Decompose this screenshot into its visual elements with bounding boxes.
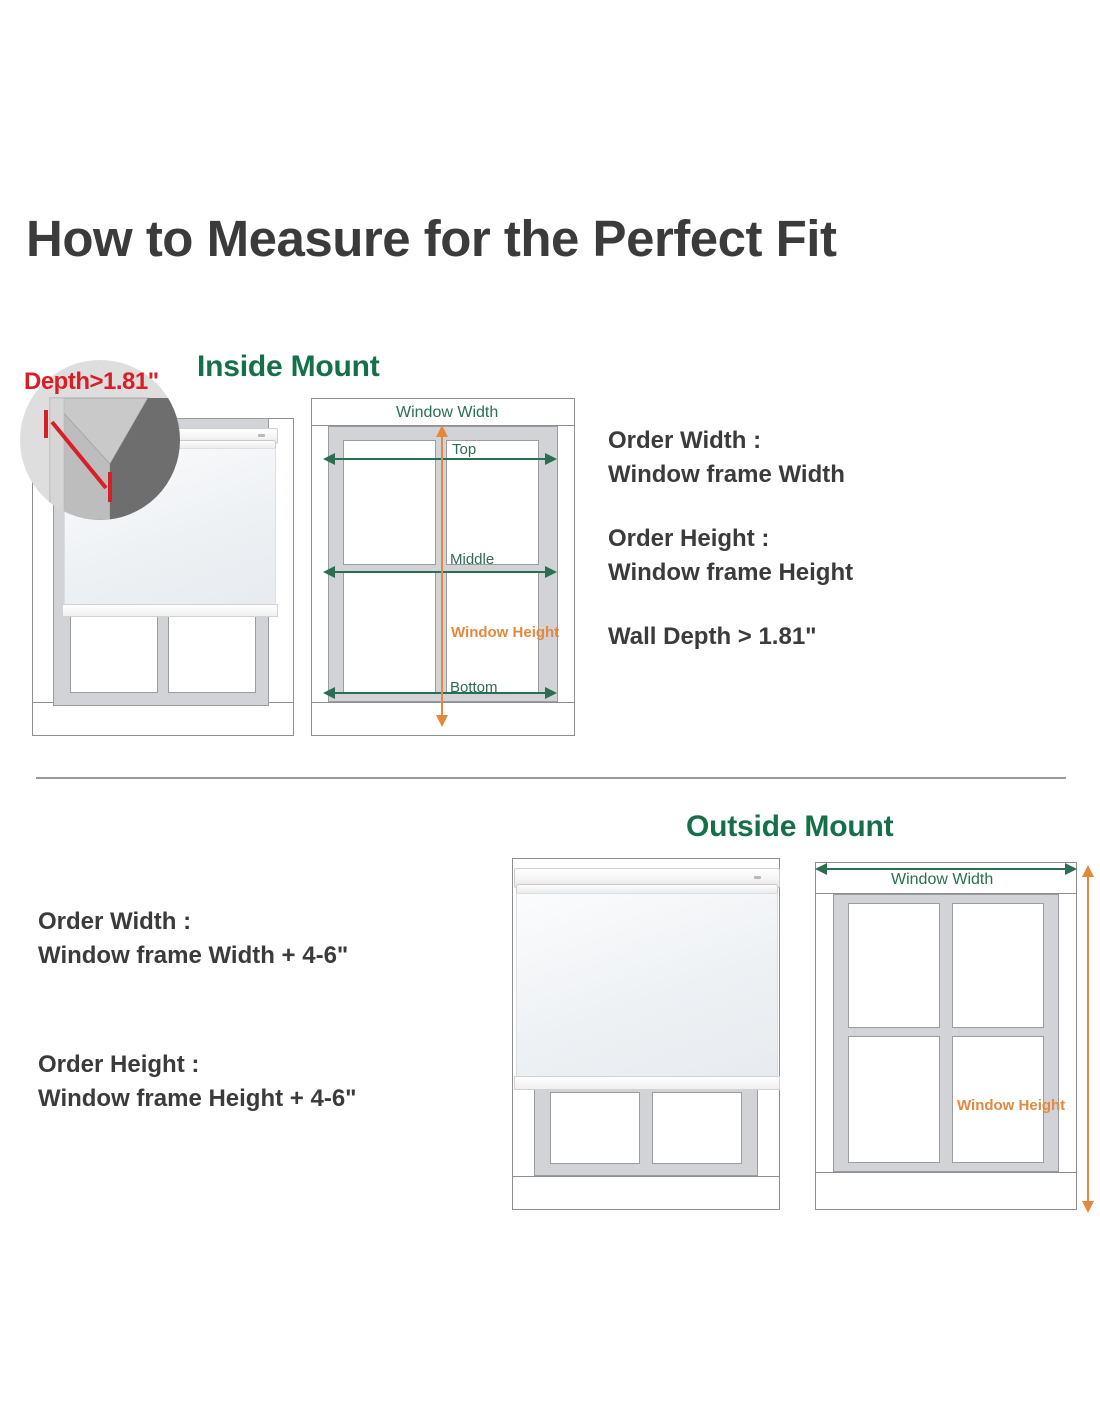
width-arrow-middle	[334, 571, 546, 573]
diagram-pane	[848, 903, 940, 1028]
outside-order-height-spec: Order Height : Window frame Height + 4-6…	[38, 1048, 357, 1116]
outside-mount-heading: Outside Mount	[686, 810, 893, 844]
inside-wall-depth-spec: Wall Depth > 1.81"	[608, 620, 817, 654]
height-arrow	[441, 436, 443, 716]
measure-label-middle: Middle	[450, 551, 494, 568]
window-pane	[652, 1092, 742, 1164]
diagram-pane	[343, 572, 436, 694]
outside-width-arrow	[826, 868, 1066, 870]
page-title: How to Measure for the Perfect Fit	[26, 212, 1086, 266]
section-divider	[36, 777, 1066, 779]
measure-label-top: Top	[452, 441, 476, 458]
inside-order-width-spec: Order Width : Window frame Width	[608, 424, 845, 492]
shade-hembar	[514, 1076, 780, 1090]
inside-window-width-label: Window Width	[396, 404, 498, 422]
width-arrow-bottom	[334, 692, 546, 694]
shade-hembar	[62, 604, 278, 617]
diagram-pane	[952, 903, 1044, 1028]
window-pane	[168, 613, 256, 693]
window-pane	[70, 613, 158, 693]
rail-endcap-icon	[754, 876, 761, 879]
wall-sill	[32, 702, 294, 736]
outside-window-width-label: Window Width	[891, 871, 993, 889]
window-pane	[550, 1092, 640, 1164]
inside-window-height-label: Window Height	[451, 624, 559, 641]
diagram-sill-band	[815, 1172, 1077, 1210]
measure-label-bottom: Bottom	[450, 679, 498, 696]
width-arrow-top	[334, 458, 546, 460]
wall-sill	[512, 1176, 780, 1210]
outside-height-arrow	[1087, 876, 1089, 1202]
outside-order-width-spec: Order Width : Window frame Width + 4-6"	[38, 905, 348, 973]
outside-window-height-label: Window Height	[957, 1097, 1065, 1114]
shade-fabric	[516, 893, 778, 1081]
inside-mount-heading: Inside Mount	[197, 350, 380, 384]
rail-endcap-icon	[258, 434, 265, 437]
diagram-pane	[848, 1036, 940, 1163]
depth-callout-label: Depth>1.81"	[24, 368, 159, 396]
inside-order-height-spec: Order Height : Window frame Height	[608, 522, 853, 590]
